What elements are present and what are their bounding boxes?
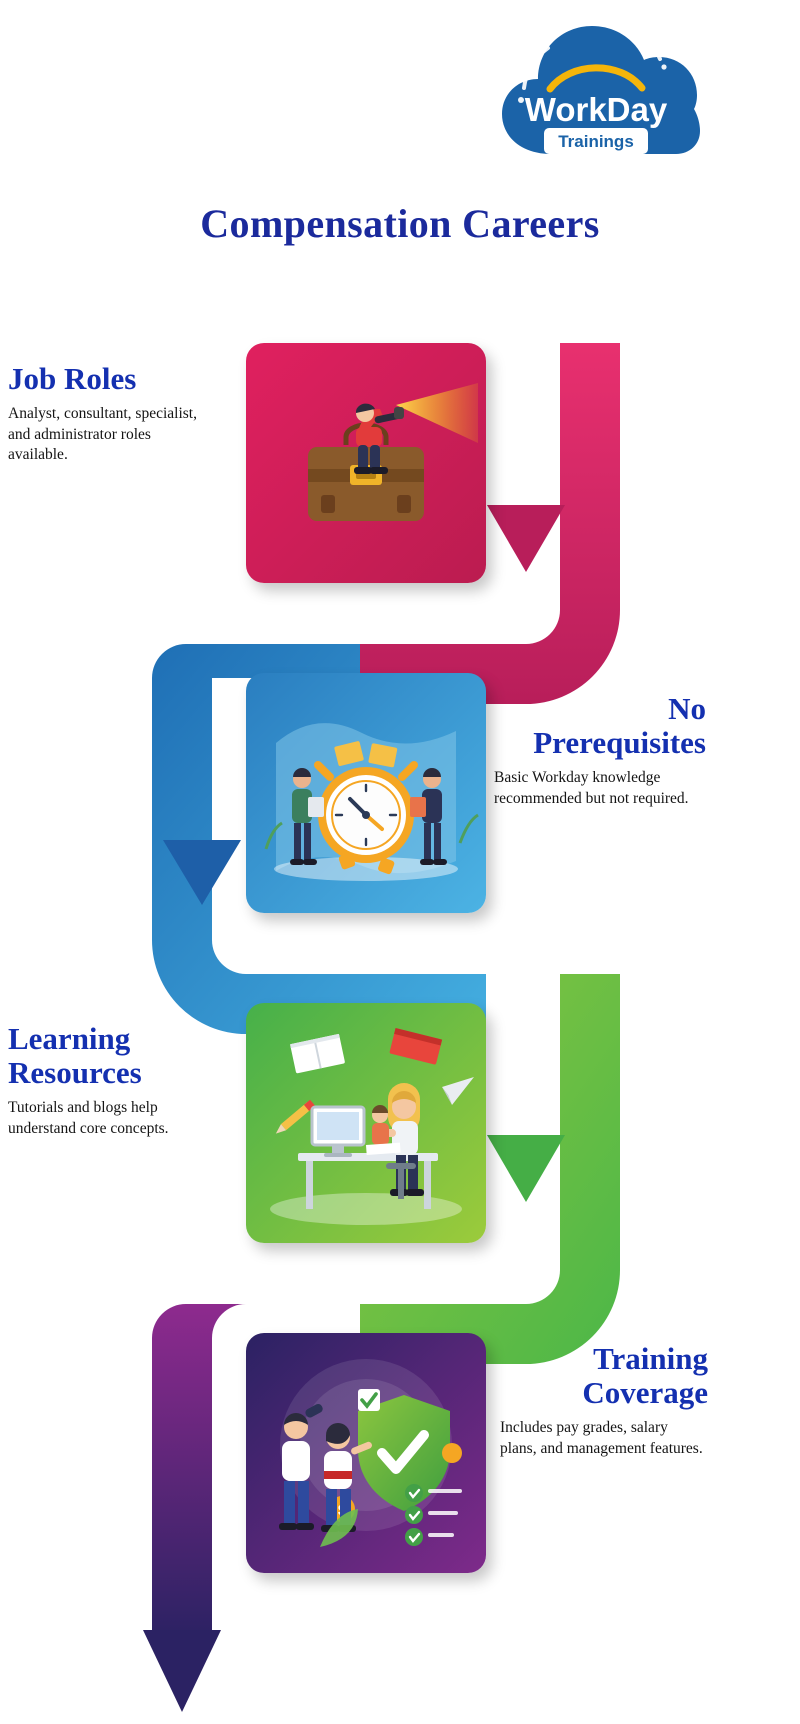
step-heading-learning-resources: Learning Resources <box>8 1022 208 1090</box>
step-text-learning-resources: Learning Resources Tutorials and blogs h… <box>8 1022 208 1139</box>
briefcase-with-telescope-person-icon <box>246 343 486 583</box>
heading-line-2: Prerequisites <box>533 725 706 760</box>
heading-line-2: Coverage <box>582 1375 708 1410</box>
step-body-learning-resources: Tutorials and blogs help understand core… <box>8 1098 208 1139</box>
step-text-job-roles: Job Roles Analyst, consultant, specialis… <box>8 362 204 466</box>
step-heading-job-roles: Job Roles <box>8 362 204 396</box>
heading-line-1: Training <box>593 1341 708 1376</box>
step-card-training-coverage[interactable]: $ <box>246 1333 486 1573</box>
step-heading-no-prerequisites: No Prerequisites <box>494 692 706 760</box>
step-text-training-coverage: Training Coverage Includes pay grades, s… <box>500 1342 708 1459</box>
step-heading-training-coverage: Training Coverage <box>500 1342 708 1410</box>
step-text-no-prerequisites: No Prerequisites Basic Workday knowledge… <box>494 692 706 809</box>
step-body-job-roles: Analyst, consultant, specialist, and adm… <box>8 404 204 466</box>
step-card-learning-resources[interactable] <box>246 1003 486 1243</box>
heading-line-2: Resources <box>8 1055 142 1090</box>
online-learning-desk-icon <box>246 1003 486 1243</box>
step-body-no-prerequisites: Basic Workday knowledge recommended but … <box>494 768 706 809</box>
step-body-training-coverage: Includes pay grades, salary plans, and m… <box>500 1418 708 1459</box>
infographic-page: WorkDay Trainings Compensation Careers <box>0 0 800 1724</box>
heading-line-1: No <box>668 691 706 726</box>
alarm-clock-deadline-icon <box>246 673 486 913</box>
step-card-job-roles[interactable] <box>246 343 486 583</box>
heading-line-1: Learning <box>8 1021 130 1056</box>
shield-checklist-students-icon: $ <box>246 1333 486 1573</box>
step-card-no-prerequisites[interactable] <box>246 673 486 913</box>
